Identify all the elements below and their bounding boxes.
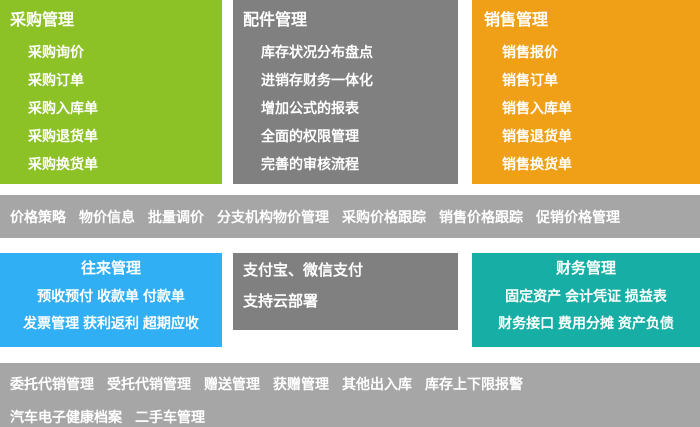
sales-management-list: 销售报价 销售订单 销售入库单 销售退货单 销售换货单: [484, 45, 700, 171]
feature-map-diagram: 采购管理 采购询价 采购订单 采购入库单 采购退货单 采购换货单 配件管理 库存…: [0, 0, 700, 427]
price-strategy-item[interactable]: 分支机构物价管理: [217, 207, 329, 227]
list-item[interactable]: 采购换货单: [10, 157, 222, 171]
consignment-bar-line-2: 汽车电子健康档案 二手车管理: [10, 407, 700, 427]
price-strategy-item[interactable]: 物价信息: [79, 207, 135, 227]
consignment-item[interactable]: 库存上下限报警: [425, 374, 523, 394]
consignment-item[interactable]: 委托代销管理: [10, 374, 94, 394]
list-item[interactable]: 库存状况分布盘点: [243, 45, 458, 59]
payment-support-card[interactable]: 支付宝、微信支付 支持云部署: [233, 253, 458, 330]
purchase-management-title: 采购管理: [10, 13, 222, 29]
price-strategy-item[interactable]: 销售价格跟踪: [439, 207, 523, 227]
parts-management-list: 库存状况分布盘点 进销存财务一体化 增加公式的报表 全面的权限管理 完善的审核流…: [243, 45, 458, 171]
list-item[interactable]: 完善的审核流程: [243, 157, 458, 171]
parts-management-title: 配件管理: [243, 13, 458, 29]
sales-management-card[interactable]: 销售管理 销售报价 销售订单 销售入库单 销售退货单 销售换货单: [472, 0, 700, 184]
payment-support-line: 支持云部署: [243, 294, 458, 309]
consignment-bar-line-1: 委托代销管理 受托代销管理 赠送管理 获赠管理 其他出入库 库存上下限报警: [10, 374, 700, 394]
consignment-item[interactable]: 受托代销管理: [107, 374, 191, 394]
price-strategy-bar: 价格策略 物价信息 批量调价 分支机构物价管理 采购价格跟踪 销售价格跟踪 促销…: [0, 195, 700, 238]
finance-management-row[interactable]: 财务接口 费用分摊 资产负债: [472, 316, 700, 330]
accounts-management-row[interactable]: 发票管理 获利返利 超期应收: [0, 316, 222, 330]
list-item[interactable]: 销售退货单: [484, 129, 700, 143]
price-strategy-item[interactable]: 促销价格管理: [536, 207, 620, 227]
finance-management-row[interactable]: 固定资产 会计凭证 损益表: [472, 289, 700, 303]
list-item[interactable]: 进销存财务一体化: [243, 73, 458, 87]
consignment-item[interactable]: 赠送管理: [204, 374, 260, 394]
finance-management-card[interactable]: 财务管理 固定资产 会计凭证 损益表 财务接口 费用分摊 资产负债: [472, 253, 700, 347]
consignment-item[interactable]: 获赠管理: [273, 374, 329, 394]
list-item[interactable]: 全面的权限管理: [243, 129, 458, 143]
purchase-management-card[interactable]: 采购管理 采购询价 采购订单 采购入库单 采购退货单 采购换货单: [0, 0, 222, 184]
list-item[interactable]: 增加公式的报表: [243, 101, 458, 115]
price-strategy-item[interactable]: 价格策略: [10, 207, 66, 227]
list-item[interactable]: 采购入库单: [10, 101, 222, 115]
list-item[interactable]: 销售报价: [484, 45, 700, 59]
purchase-management-list: 采购询价 采购订单 采购入库单 采购退货单 采购换货单: [10, 45, 222, 171]
list-item[interactable]: 销售换货单: [484, 157, 700, 171]
consignment-item[interactable]: 汽车电子健康档案: [10, 407, 122, 427]
consignment-item[interactable]: 二手车管理: [135, 407, 205, 427]
payment-support-line: 支付宝、微信支付: [243, 263, 458, 278]
accounts-management-title: 往来管理: [0, 261, 222, 276]
list-item[interactable]: 采购订单: [10, 73, 222, 87]
list-item[interactable]: 采购退货单: [10, 129, 222, 143]
price-strategy-item[interactable]: 采购价格跟踪: [342, 207, 426, 227]
list-item[interactable]: 销售入库单: [484, 101, 700, 115]
sales-management-title: 销售管理: [484, 13, 700, 29]
list-item[interactable]: 采购询价: [10, 45, 222, 59]
consignment-item[interactable]: 其他出入库: [342, 374, 412, 394]
price-strategy-item[interactable]: 批量调价: [148, 207, 204, 227]
list-item[interactable]: 销售订单: [484, 73, 700, 87]
finance-management-title: 财务管理: [472, 261, 700, 276]
accounts-management-card[interactable]: 往来管理 预收预付 收款单 付款单 发票管理 获利返利 超期应收: [0, 253, 222, 347]
consignment-bar: 委托代销管理 受托代销管理 赠送管理 获赠管理 其他出入库 库存上下限报警 汽车…: [0, 363, 700, 427]
parts-management-card[interactable]: 配件管理 库存状况分布盘点 进销存财务一体化 增加公式的报表 全面的权限管理 完…: [233, 0, 458, 184]
accounts-management-row[interactable]: 预收预付 收款单 付款单: [0, 289, 222, 303]
